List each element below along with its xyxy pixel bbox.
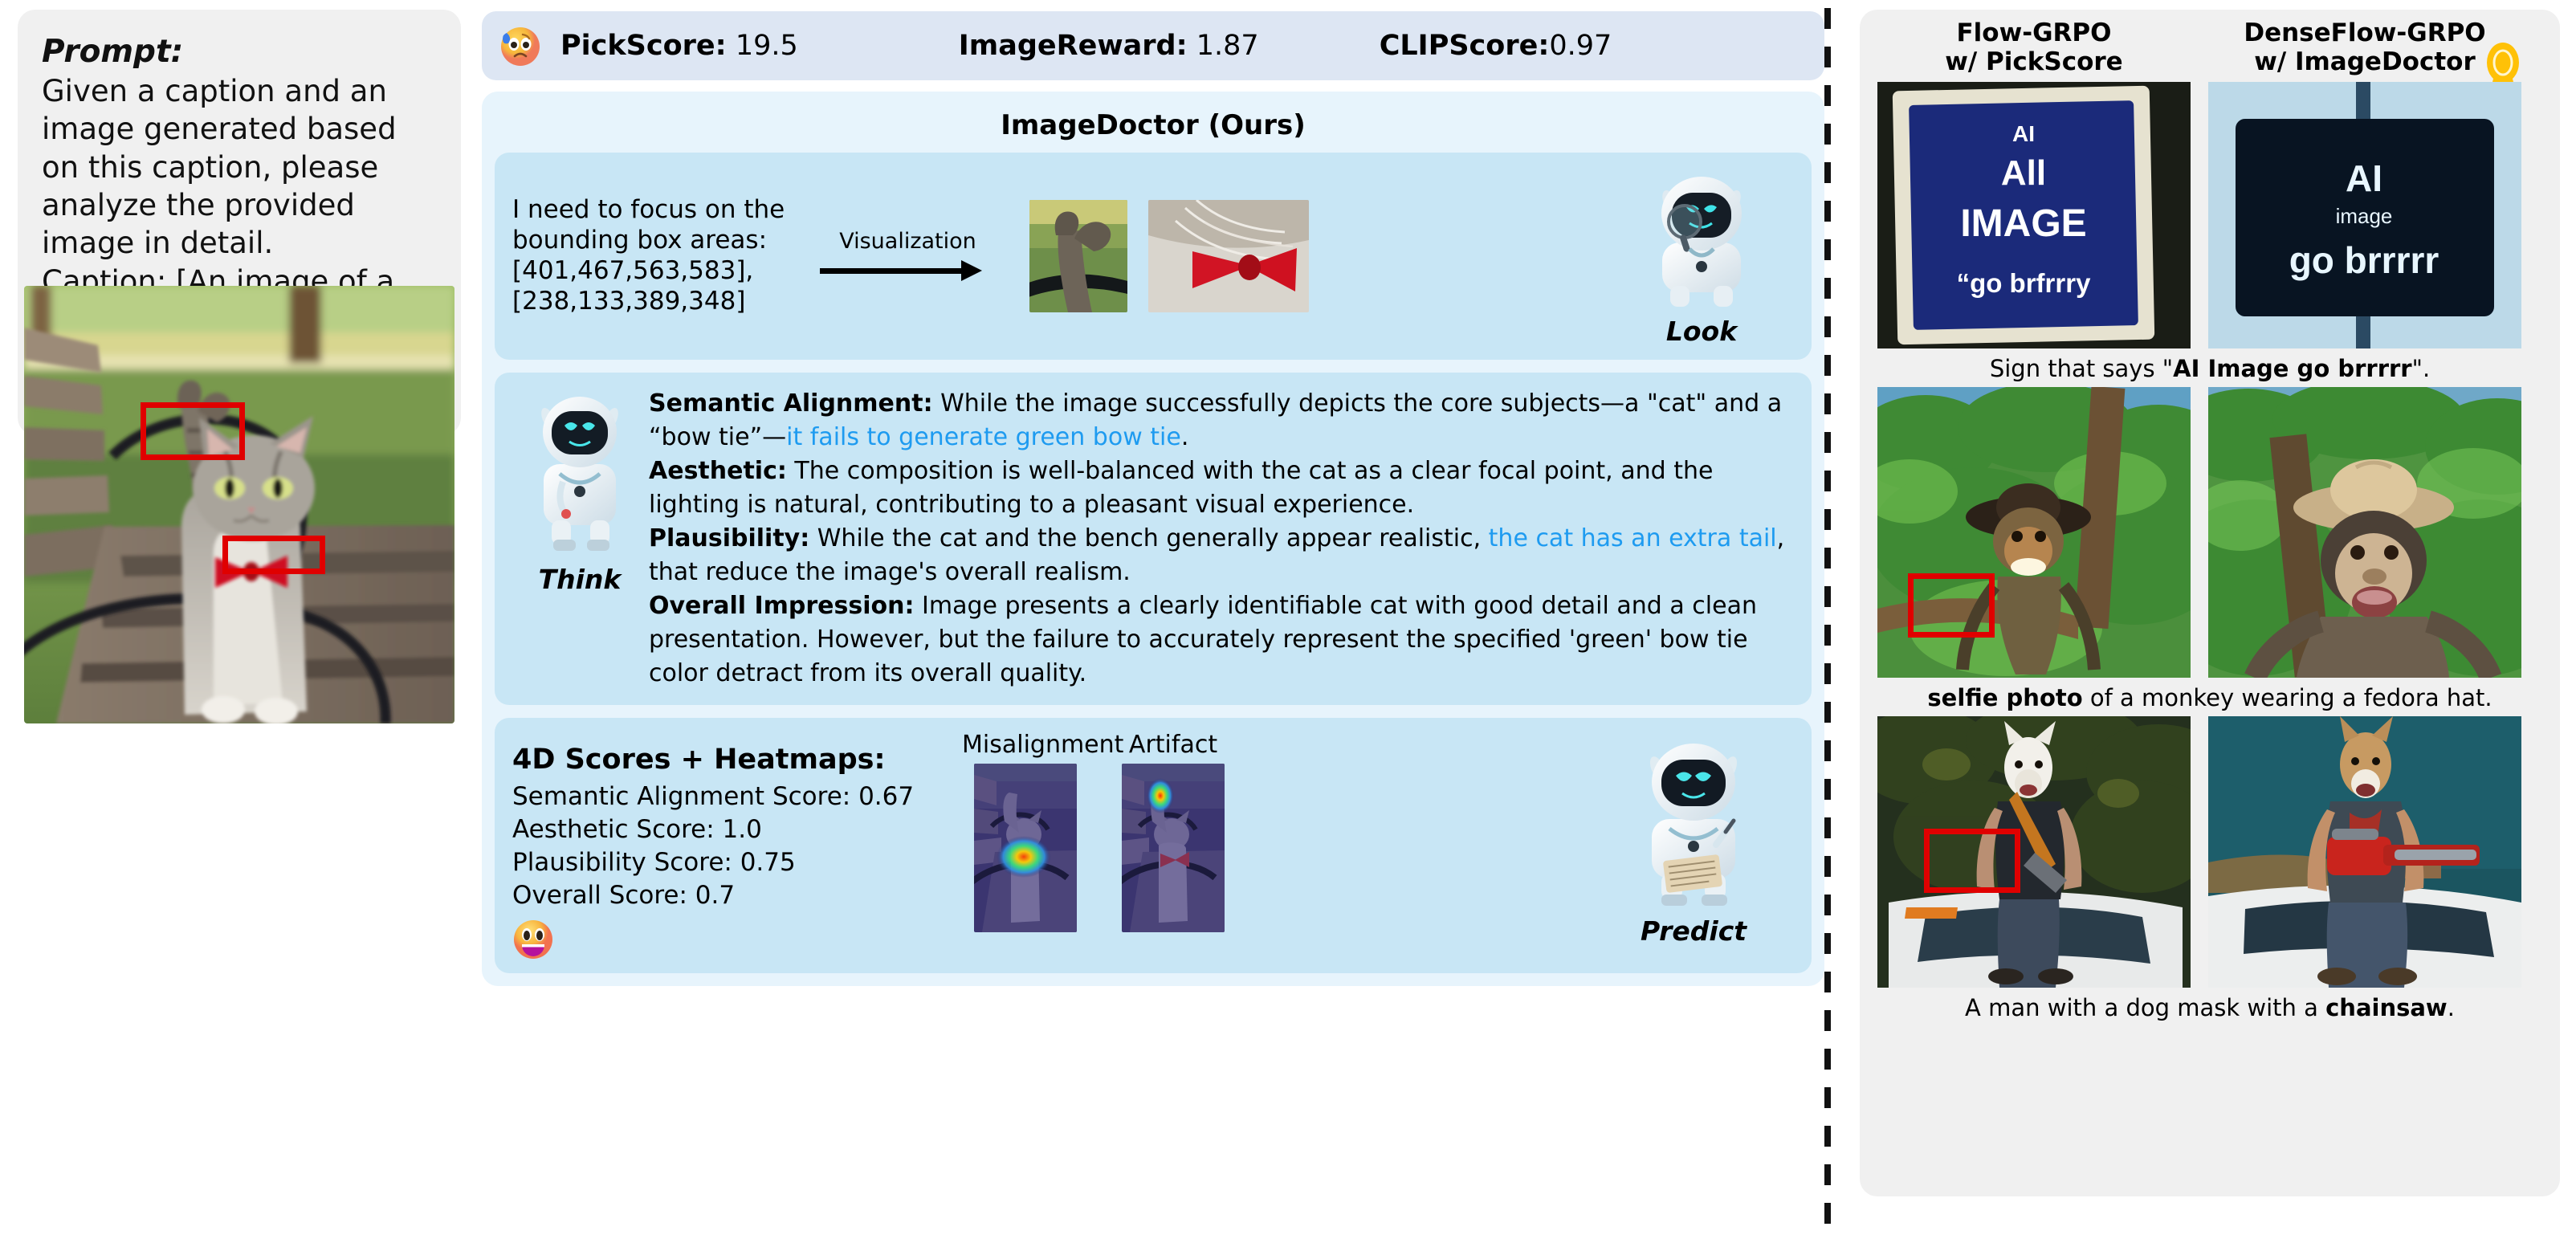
analysis-overall-impression: Overall Impression: Image presents a cle…	[649, 589, 1791, 691]
think-stage-label: Think	[516, 564, 644, 595]
heatmap-misalignment-image	[974, 764, 1077, 932]
svg-text:All: All	[2001, 153, 2046, 193]
plausibility-label: Plausibility:	[649, 524, 809, 552]
chainsaw-caption-prefix: A man with a dog mask with a	[1965, 994, 2325, 1021]
overall-impression-label: Overall Impression:	[649, 592, 914, 620]
analysis-plausibility: Plausibility: While the cat and the benc…	[649, 522, 1791, 589]
comparison-header-flow-grpo: Flow-GRPO w/ PickScore	[1877, 19, 2191, 77]
bbox-annotation-hands-chainsaw	[1924, 829, 2020, 893]
plausibility-text: While the cat and the bench generally ap…	[809, 524, 1488, 552]
look-reasoning-text: I need to focus on the bounding box area…	[512, 195, 813, 316]
chainsaw-image-denseflow-grpo	[2208, 716, 2521, 988]
look-text-line1: I need to focus on the	[512, 195, 813, 226]
worried-face-emoji	[498, 23, 543, 68]
svg-text:go brrrrr: go brrrrr	[2289, 239, 2439, 281]
pickscore-label: PickScore:	[560, 30, 727, 62]
aesthetic-text: The composition is well-balanced with th…	[649, 457, 1713, 519]
svg-text:“go brfrrry: “go brfrrry	[1957, 268, 2092, 298]
monkey-image-denseflow-grpo	[2208, 387, 2521, 678]
chainsaw-caption-bold: chainsaw	[2325, 994, 2448, 1021]
look-bbox-1: [401,467,563,583],	[512, 256, 813, 287]
input-image-cat-on-bench	[24, 286, 454, 723]
comparison-row-sign: AI All IMAGE “go brfrrry AI image go brr…	[1877, 82, 2542, 348]
robot-look-icon	[1609, 165, 1794, 314]
scores-block: 4D Scores + Heatmaps: Semantic Alignment…	[512, 731, 962, 960]
think-stage-card: Think Semantic Alignment: While the imag…	[495, 373, 1812, 705]
imagedoctor-title: ImageDoctor (Ours)	[495, 101, 1812, 153]
visualization-label: Visualization	[813, 229, 1002, 254]
baseline-score-bar: PickScore: 19.5 ImageReward: 1.87 CLIPSc…	[482, 11, 1824, 80]
bbox-annotation-tail	[141, 402, 245, 460]
predict-robot-group: Predict	[1593, 731, 1794, 947]
robot-predict-icon	[1593, 736, 1794, 914]
comparison-caption-sign: Sign that says "AI Image go brrrrr".	[1877, 355, 2542, 382]
sign-caption-suffix: ".	[2412, 355, 2431, 382]
svg-text:AI: AI	[2012, 121, 2035, 146]
monkey-caption-suffix: of a monkey wearing a fedora hat.	[2083, 684, 2492, 711]
bbox-annotation-bowtie	[222, 536, 325, 574]
comparison-caption-monkey: selfie photo of a monkey wearing a fedor…	[1877, 684, 2542, 711]
look-stage-label: Look	[1609, 316, 1794, 347]
analysis-semantic-alignment: Semantic Alignment: While the image succ…	[649, 387, 1791, 454]
denseflow-grpo-title-line1: DenseFlow-GRPO	[2208, 19, 2521, 48]
prompt-body-text: Given a caption and an image generated b…	[42, 72, 437, 263]
clipscore-readout: CLIPScore:0.97	[1380, 30, 1612, 62]
pickscore-readout: PickScore: 19.5	[560, 30, 798, 62]
flow-grpo-title-line1: Flow-GRPO	[1877, 19, 2191, 48]
svg-text:image: image	[2336, 204, 2393, 228]
aesthetic-label: Aesthetic:	[649, 457, 787, 485]
imagereward-readout: ImageReward: 1.87	[959, 30, 1259, 62]
comparison-headers: Flow-GRPO w/ PickScore DenseFlow-GRPO w/…	[1877, 19, 2542, 77]
comparison-row-monkey	[1877, 387, 2542, 678]
sign-image-flow-grpo: AI All IMAGE “go brfrrry	[1877, 82, 2191, 348]
left-column: Prompt: Given a caption and an image gen…	[18, 10, 461, 1198]
crop-image-bowtie	[1148, 200, 1309, 312]
grinning-face-emoji	[512, 919, 554, 960]
heatmap-misalignment-label: Misalignment	[962, 731, 1089, 759]
middle-column: PickScore: 19.5 ImageReward: 1.87 CLIPSc…	[482, 11, 1824, 986]
comparison-panel: Flow-GRPO w/ PickScore DenseFlow-GRPO w/…	[1860, 10, 2560, 1196]
semantic-alignment-label: Semantic Alignment:	[649, 389, 933, 418]
pickscore-value: 19.5	[736, 30, 798, 62]
denseflow-grpo-title-line2: w/ ImageDoctor	[2208, 48, 2521, 77]
look-text-line2: bounding box areas:	[512, 226, 813, 256]
score-aesthetic: Aesthetic Score: 1.0	[512, 813, 962, 846]
svg-text:IMAGE: IMAGE	[1960, 202, 2086, 245]
heatmap-misalignment-group: Misalignment	[962, 731, 1089, 932]
comparison-header-denseflow-grpo: DenseFlow-GRPO w/ ImageDoctor	[2208, 19, 2521, 77]
visualization-arrow-group: Visualization	[813, 229, 1002, 284]
heatmap-artifact-label: Artifact	[1110, 731, 1237, 759]
poster-root: Prompt: Given a caption and an image gen…	[0, 0, 2576, 1243]
imagedoctor-panel: ImageDoctor (Ours) I need to focus on th…	[482, 92, 1824, 986]
score-plausibility: Plausibility Score: 0.75	[512, 846, 962, 879]
heatmap-artifact-image	[1122, 764, 1225, 932]
comparison-row-chainsaw	[1877, 716, 2542, 988]
monkey-caption-bold: selfie photo	[1927, 684, 2082, 711]
bbox-annotation-monkey-hands	[1908, 573, 1995, 638]
predict-stage-label: Predict	[1593, 915, 1794, 947]
chainsaw-caption-suffix: .	[2448, 994, 2455, 1021]
sign-image-denseflow-grpo: AI image go brrrrr	[2208, 82, 2521, 348]
arrow-right-icon	[813, 257, 1002, 284]
robot-think-icon	[516, 387, 644, 562]
flow-grpo-title-line2: w/ PickScore	[1877, 48, 2191, 77]
clipscore-label: CLIPScore:	[1380, 30, 1550, 62]
sign-caption-prefix: Sign that says "	[1990, 355, 2173, 382]
imagereward-label: ImageReward:	[959, 30, 1188, 62]
monkey-image-flow-grpo	[1877, 387, 2191, 678]
look-stage-card: I need to focus on the bounding box area…	[495, 153, 1812, 360]
crop-image-tail	[1029, 200, 1127, 312]
scores-title: 4D Scores + Heatmaps:	[512, 744, 962, 776]
think-analysis-body: Semantic Alignment: While the image succ…	[644, 387, 1791, 691]
clipscore-value: 0.97	[1549, 30, 1612, 62]
think-robot-group: Think	[516, 387, 644, 691]
heatmap-artifact-group: Artifact	[1110, 731, 1237, 932]
semantic-alignment-highlight: it fails to generate green bow tie	[786, 423, 1181, 451]
plausibility-highlight: the cat has an extra tail	[1489, 524, 1777, 552]
look-bbox-2: [238,133,389,348]	[512, 287, 813, 317]
score-semantic-alignment: Semantic Alignment Score: 0.67	[512, 780, 962, 813]
look-robot-group: Look	[1609, 165, 1794, 347]
comparison-caption-chainsaw: A man with a dog mask with a chainsaw.	[1877, 994, 2542, 1021]
look-crop-images	[1029, 200, 1309, 312]
svg-text:AI: AI	[2346, 157, 2382, 199]
imagereward-value: 1.87	[1196, 30, 1259, 62]
semantic-alignment-tail: .	[1181, 423, 1189, 451]
predict-stage-card: 4D Scores + Heatmaps: Semantic Alignment…	[495, 718, 1812, 973]
score-overall: Overall Score: 0.7	[512, 879, 962, 912]
analysis-aesthetic: Aesthetic: The composition is well-balan…	[649, 454, 1791, 522]
sign-caption-bold: AI Image go brrrrr	[2173, 355, 2411, 382]
chainsaw-image-flow-grpo	[1877, 716, 2191, 988]
prompt-title: Prompt:	[42, 34, 437, 71]
vertical-dashed-divider	[1824, 8, 1831, 1235]
